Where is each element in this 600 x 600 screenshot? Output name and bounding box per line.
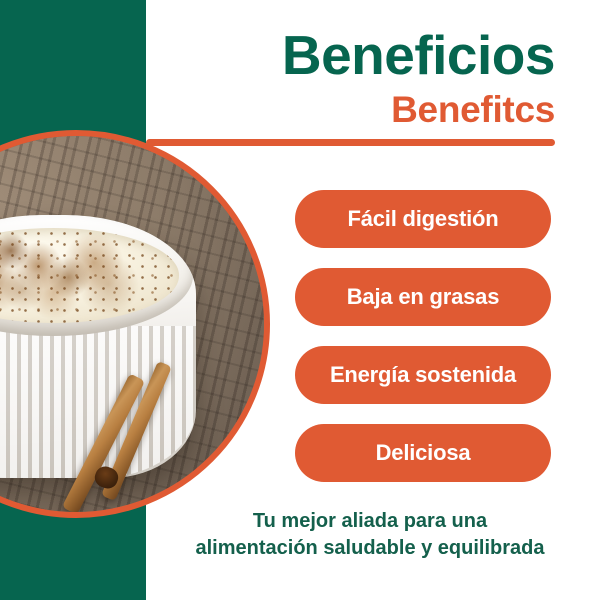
benefits-list: Fácil digestión Baja en grasas Energía s… bbox=[295, 190, 551, 482]
benefit-pill-baja-en-grasas[interactable]: Baja en grasas bbox=[295, 268, 551, 326]
benefit-pill-deliciosa[interactable]: Deliciosa bbox=[295, 424, 551, 482]
food-photo bbox=[0, 136, 264, 512]
page-subtitle: Benefitcs bbox=[146, 91, 555, 128]
poster-header: Beneficios Benefitcs bbox=[146, 0, 600, 146]
rice-pudding-surface bbox=[0, 228, 179, 323]
page-title: Beneficios bbox=[146, 28, 555, 83]
food-photo-circle bbox=[0, 130, 270, 518]
title-divider bbox=[146, 139, 555, 146]
benefit-label: Energía sostenida bbox=[330, 362, 516, 388]
benefit-label: Deliciosa bbox=[376, 440, 471, 466]
tagline-line-2: alimentación saludable y equilibrada bbox=[150, 535, 590, 562]
tagline-line-1: Tu mejor aliada para una bbox=[150, 508, 590, 535]
benefit-label: Baja en grasas bbox=[347, 284, 500, 310]
benefit-pill-energia-sostenida[interactable]: Energía sostenida bbox=[295, 346, 551, 404]
benefit-pill-facil-digestion[interactable]: Fácil digestión bbox=[295, 190, 551, 248]
benefits-poster: Beneficios Benefitcs Fácil digestión Baj… bbox=[0, 0, 600, 600]
benefit-label: Fácil digestión bbox=[347, 206, 498, 232]
tagline: Tu mejor aliada para una alimentación sa… bbox=[150, 508, 590, 562]
cinnamon-specks bbox=[0, 228, 179, 323]
